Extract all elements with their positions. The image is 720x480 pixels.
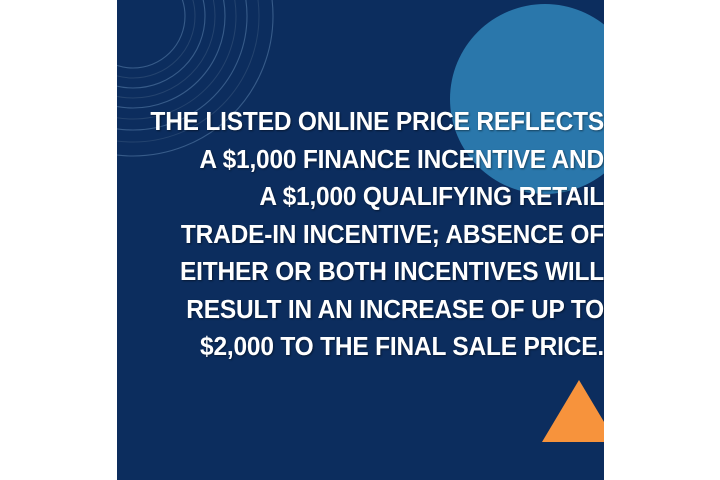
disclaimer-line: A $1,000 QUALIFYING RETAIL [144,179,604,217]
disclaimer-line: EITHER OR BOTH INCENTIVES WILL [144,254,604,292]
disclaimer-line: RESULT IN AN INCREASE OF UP TO [144,292,604,330]
disclaimer-line: $2,000 TO THE FINAL SALE PRICE. [144,329,604,367]
promo-panel: THE LISTED ONLINE PRICE REFLECTS A $1,00… [117,0,604,480]
disclaimer-line: A $1,000 FINANCE INCENTIVE AND [144,142,604,180]
disclaimer-line: TRADE-IN INCENTIVE; ABSENCE OF [144,217,604,255]
accent-triangle-decoration [542,380,604,442]
promo-graphic-screenshot: THE LISTED ONLINE PRICE REFLECTS A $1,00… [0,0,720,480]
disclaimer-line: THE LISTED ONLINE PRICE REFLECTS [144,104,604,142]
disclaimer-text-block: THE LISTED ONLINE PRICE REFLECTS A $1,00… [125,104,604,367]
